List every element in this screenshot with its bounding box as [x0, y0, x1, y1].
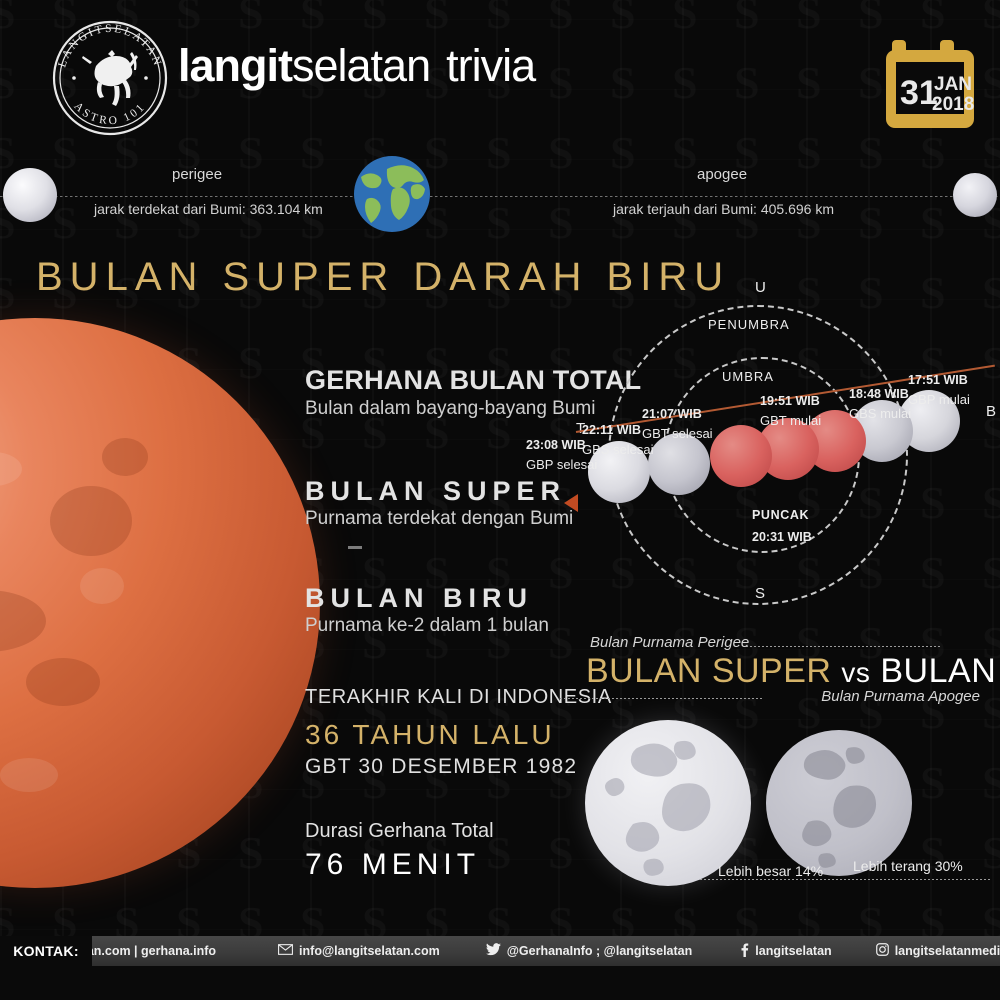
comparison-bottom-dashes — [560, 698, 764, 699]
contact-item-instagram[interactable]: langitselatanmedia — [876, 943, 1000, 959]
fact-heading-bulan-biru: BULAN BIRU — [305, 583, 533, 614]
contact-item-email[interactable]: info@langitselatan.com — [278, 944, 440, 958]
infographic-root: SSSSSSSSSSSSSSSSSSSSSSSSSSSSSSSSSSSSSSSS… — [0, 0, 1000, 1000]
brand-part-1: langit — [178, 40, 292, 91]
phase-time-gbp-selesai: 23:08 WIB — [526, 438, 586, 452]
calendar-year: 2018 — [932, 94, 974, 115]
brand-title: langitselatantrivia — [178, 40, 535, 92]
axis-label-utara: U — [755, 279, 767, 296]
fact-sub-gerhana-bulan-total: Bulan dalam bayang-bayang Bumi — [305, 398, 595, 420]
phase-event-gbt-selesai: GBT selesai — [642, 426, 713, 441]
phase-time-gbs-mulai: 18:48 WIB — [849, 387, 909, 401]
eclipse-moon-gbs-selesai — [648, 433, 710, 495]
fact-sub-bulan-biru: Purnama ke-2 dalam 1 bulan — [305, 615, 549, 637]
perigee-distance: jarak terdekat dari Bumi: 363.104 km — [94, 201, 323, 217]
phase-time-gbp-mulai: 17:51 WIB — [908, 373, 968, 387]
duration-label: Durasi Gerhana Total — [305, 820, 494, 843]
facebook-icon — [740, 943, 749, 960]
umbra-label: UMBRA — [722, 369, 774, 384]
twitter-icon — [486, 943, 501, 959]
contact-text-instagram: langitselatanmedia — [895, 944, 1000, 958]
brand-part-3: trivia — [446, 40, 535, 91]
fact-sub-bulan-super: Purnama terdekat dengan Bumi — [305, 508, 573, 530]
langitselatan-logo: LANGITSELATAN ASTRO 101 — [48, 16, 172, 140]
perigee-label: perigee — [172, 166, 222, 183]
contact-label-box: KONTAK: — [0, 936, 92, 966]
minimoon-circle — [766, 730, 912, 876]
phase-event-gbp-mulai: GBP mulai — [908, 392, 970, 407]
phase-event-gbs-mulai: GBS mulai — [849, 406, 911, 421]
contact-label: KONTAK: — [13, 943, 79, 959]
fact-heading-bulan-super: BULAN SUPER — [305, 476, 566, 507]
last-time-line3: GBT 30 DESEMBER 1982 — [305, 755, 577, 779]
comparison-title-white: BULAN MINI — [880, 652, 1000, 690]
section-divider — [348, 546, 362, 549]
contact-item-facebook[interactable]: langitselatan — [740, 943, 831, 960]
eclipse-moon-gbt-selesai — [710, 425, 772, 487]
earth-icon — [353, 155, 431, 233]
contact-text-facebook: langitselatan — [755, 944, 831, 958]
blood-moon-image — [0, 318, 320, 888]
supermoon-vs-minimoon-section: Bulan Purnama Perigee BULAN SUPER vs BUL… — [560, 630, 1000, 910]
peak-label: PUNCAK — [752, 508, 809, 522]
contact-item-twitter[interactable]: @GerhanaInfo ; @langitselatan — [486, 943, 693, 959]
envelope-icon — [278, 944, 293, 958]
apogee-distance: jarak terjauh dari Bumi: 405.696 km — [613, 201, 834, 217]
peak-time: 20:31 WIB — [752, 530, 812, 544]
calendar-icon: 31 JAN 2018 — [884, 32, 976, 132]
duration-value: 76 MENIT — [305, 848, 480, 882]
apogee-moon-icon — [953, 173, 997, 217]
last-time-line2: 36 TAHUN LALU — [305, 719, 555, 751]
eclipse-diagram: U S T B PENUMBRA UMBRA 17:51 WIB GBP mul… — [560, 275, 1000, 615]
instagram-icon — [876, 943, 889, 959]
comparison-title-vs: vs — [841, 657, 870, 688]
comparison-top-dashes — [746, 646, 942, 647]
contact-text-twitter: @GerhanaInfo ; @langitselatan — [507, 944, 693, 958]
perigee-moon-icon — [3, 168, 57, 222]
phase-time-gbt-mulai: 19:51 WIB — [760, 394, 820, 408]
track-arrow-icon — [564, 494, 578, 512]
comparison-title-gold: BULAN SUPER — [586, 652, 831, 690]
phase-event-gbt-mulai: GBT mulai — [760, 413, 821, 428]
comparison-top-caption: Bulan Purnama Perigee — [590, 634, 749, 651]
supermoon-circle — [585, 720, 751, 886]
phase-time-gbs-selesai: 22:11 WIB — [582, 423, 641, 437]
axis-label-selatan: S — [755, 585, 767, 602]
left-measure-dashes — [700, 879, 990, 880]
minimoon-brightness-label: Lebih terang 30% — [853, 858, 963, 874]
contact-bar: langitselatan.com | gerhana.info info@la… — [0, 936, 1000, 966]
svg-text:ASTRO 101: ASTRO 101 — [71, 100, 148, 127]
bottom-band — [0, 966, 1000, 1000]
logo-bottom-text: ASTRO 101 — [71, 100, 148, 127]
contact-text-email: info@langitselatan.com — [299, 944, 440, 958]
distance-dotted-line — [0, 196, 1000, 198]
comparison-bottom-caption: Bulan Purnama Apogee — [821, 688, 980, 705]
calendar-month: JAN — [934, 74, 972, 95]
comparison-title: BULAN SUPER vs BULAN MINI — [586, 652, 1000, 691]
apogee-label: apogee — [697, 166, 747, 183]
phase-event-gbp-selesai: GBP selesai — [526, 457, 597, 472]
centaur-archer-icon — [82, 50, 138, 106]
brand-part-2: selatan — [292, 40, 430, 91]
penumbra-label: PENUMBRA — [708, 317, 790, 332]
supermoon-size-label: Lebih besar 14% — [718, 863, 823, 879]
phase-event-gbs-selesai: GBS selesai — [582, 442, 654, 457]
axis-label-barat: B — [986, 403, 998, 420]
phase-time-gbt-selesai: 21:07 WIB — [642, 407, 702, 421]
